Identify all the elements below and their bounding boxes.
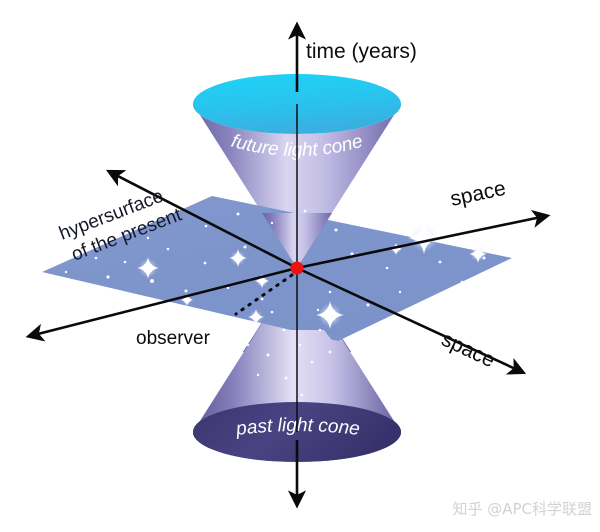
- star-dot: [205, 225, 208, 228]
- star-dot: [465, 239, 467, 241]
- star-dot: [237, 213, 240, 216]
- space-axis-lower-right-label: space: [438, 328, 499, 373]
- star-dot: [335, 229, 338, 232]
- star-dot: [399, 291, 401, 293]
- cone-star-dot: [317, 309, 319, 311]
- star-dot: [304, 210, 307, 213]
- cone-star-dot: [301, 394, 303, 396]
- star-dot: [150, 279, 154, 283]
- star-dot: [451, 225, 454, 228]
- cone-star-dot: [299, 344, 301, 346]
- star-dot: [167, 248, 170, 251]
- cone-star-dot: [285, 377, 288, 380]
- cone-star-dot: [257, 374, 259, 376]
- observer-label: observer: [136, 328, 211, 349]
- light-cone-diagram: future light cone: [0, 0, 600, 532]
- space-axis-upper-right-label: space: [448, 177, 508, 211]
- cone-star-dot: [283, 329, 286, 332]
- star-dot: [129, 295, 132, 298]
- cone-star-dot: [267, 354, 270, 357]
- time-axis-label: time (years): [306, 40, 417, 63]
- cone-star-dot: [247, 344, 249, 346]
- star-dot: [174, 311, 176, 313]
- star-dot: [124, 261, 127, 264]
- cone-star-dot: [271, 311, 274, 314]
- star-dot: [185, 290, 188, 293]
- cone-star-dot: [311, 361, 314, 364]
- star-dot: [215, 317, 218, 320]
- star-dot: [329, 291, 332, 294]
- star-dot: [359, 208, 362, 211]
- star-dot: [419, 206, 421, 208]
- cone-star-dot: [329, 351, 332, 354]
- star-dot: [391, 221, 394, 224]
- star-dot: [204, 262, 207, 265]
- star-dot: [261, 298, 264, 301]
- watermark-label: 知乎 @APC科学联盟: [452, 500, 592, 518]
- star-dot: [244, 246, 247, 249]
- star-dot: [386, 267, 389, 270]
- star-dot: [227, 287, 229, 289]
- star-dot: [497, 243, 500, 246]
- star-dot: [461, 281, 464, 284]
- star-dot: [106, 275, 109, 278]
- origin-event-dot[interactable]: [291, 262, 304, 275]
- star-dot: [439, 261, 442, 264]
- cone-star-dot: [319, 329, 322, 332]
- star-dot: [429, 299, 432, 302]
- star-dot: [65, 271, 67, 273]
- star-dot: [367, 304, 370, 307]
- star-dot: [271, 222, 273, 224]
- figure-canvas: future light cone: [0, 0, 600, 532]
